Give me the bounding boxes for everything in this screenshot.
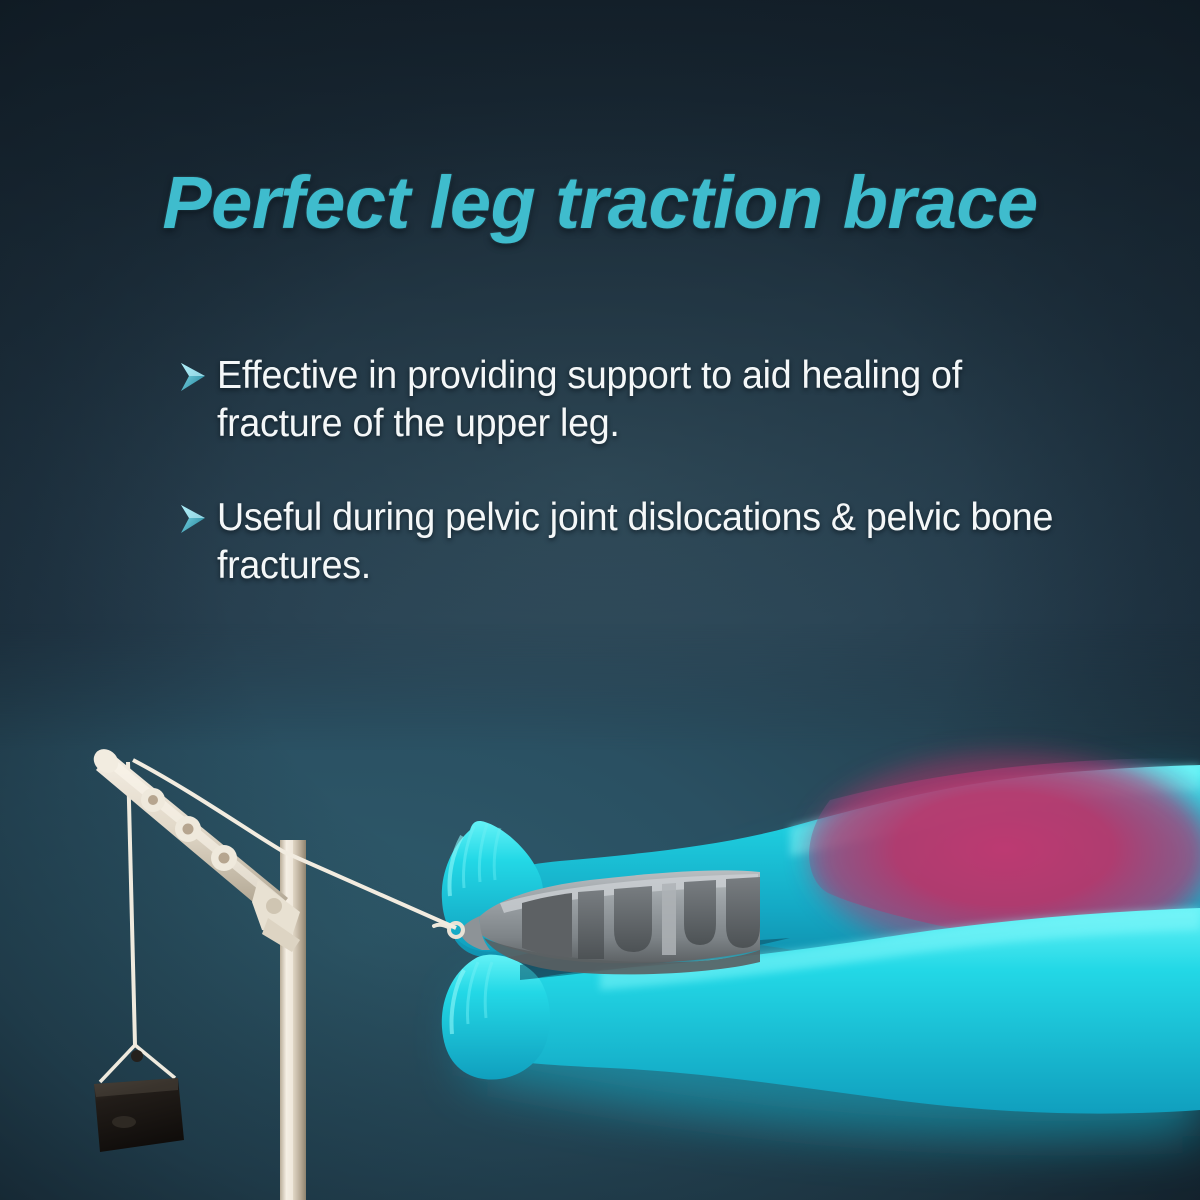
arm-pulleys [141, 788, 237, 871]
list-item: Useful during pelvic joint dislocations … [178, 494, 1103, 590]
page-title: Perfect leg traction brace [0, 160, 1200, 245]
weight-cord [128, 762, 135, 1045]
list-item: Effective in providing support to aid he… [178, 352, 1103, 448]
poster-root: Perfect leg traction brace Effective in … [0, 0, 1200, 1200]
list-item-text: Useful during pelvic joint dislocations … [217, 494, 1072, 590]
benefits-list: Effective in providing support to aid he… [178, 352, 1103, 636]
arrow-bullet-icon [178, 360, 208, 394]
arrow-bullet-icon [178, 502, 208, 536]
counterweight-bag [94, 1045, 184, 1152]
traction-frame-arm [89, 744, 300, 952]
list-item-text: Effective in providing support to aid he… [217, 352, 1072, 448]
traction-frame [89, 744, 456, 1200]
